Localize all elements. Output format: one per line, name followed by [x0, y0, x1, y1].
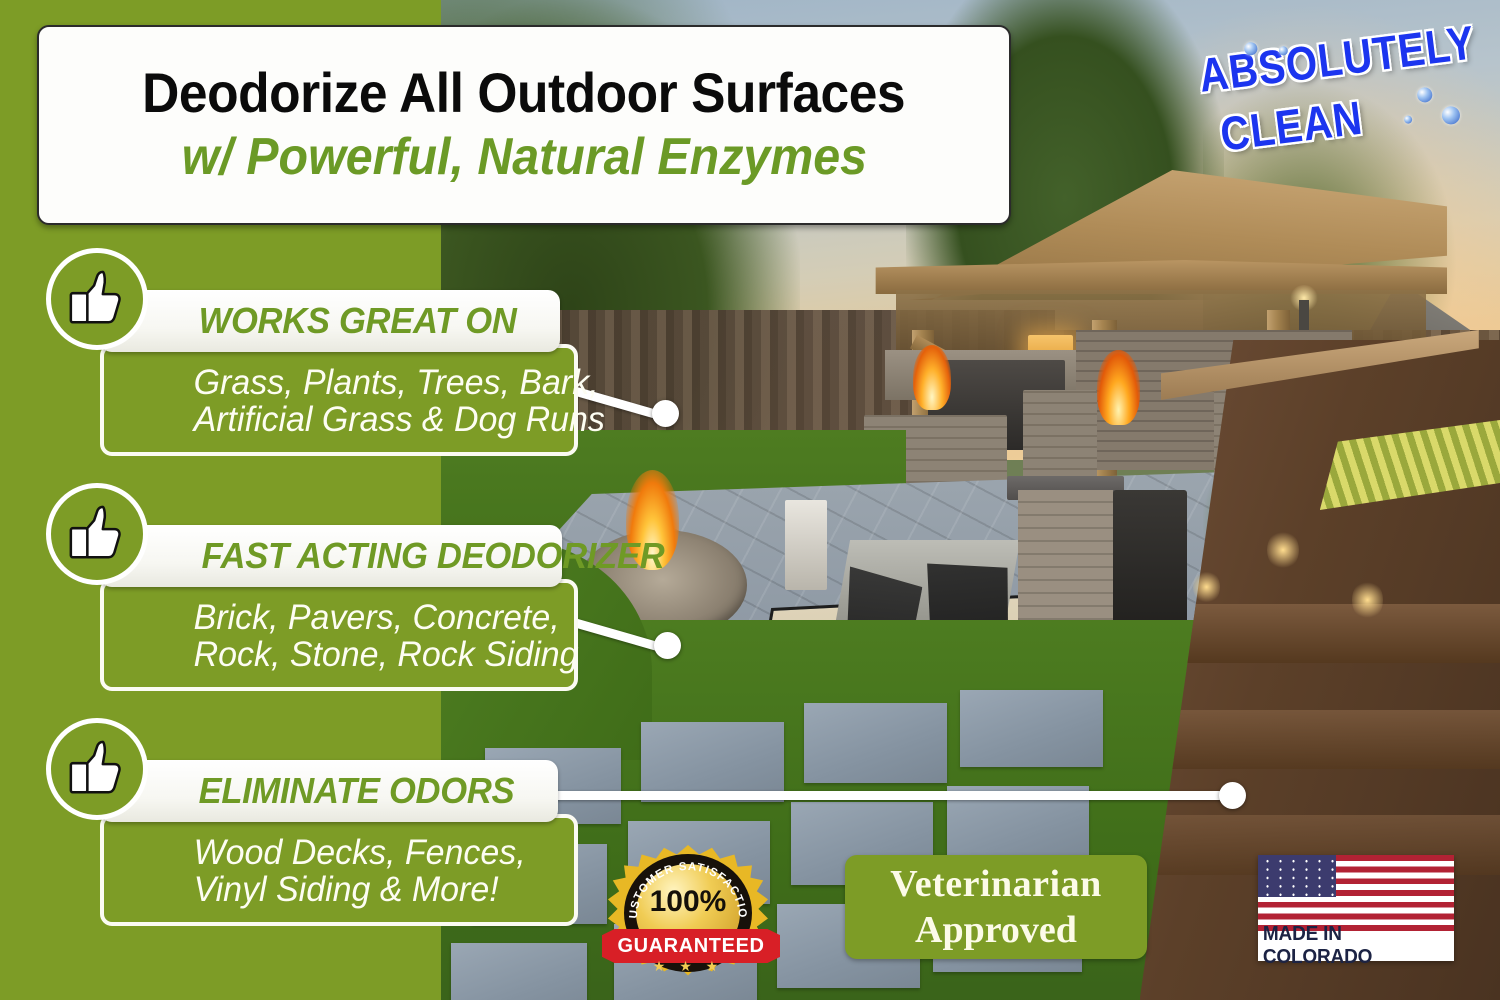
- us-flag-icon: [1258, 855, 1454, 931]
- candle-light-3: [1193, 570, 1221, 604]
- thumbs-up-icon: [46, 718, 148, 820]
- feature-body-line-3b: Vinyl Siding & More!: [194, 871, 557, 908]
- feature-title-card-2: FAST ACTING DEODORIZER: [100, 525, 562, 587]
- colorado-label: MADE IN COLORADO: [1263, 923, 1449, 969]
- feature-body-line-2a: Brick, Pavers, Concrete,: [194, 599, 557, 636]
- satisfaction-guarantee-seal: CUSTOMER SATISFACTION 100% GUARANTEED ★ …: [602, 845, 780, 981]
- feature-body-line-3a: Wood Decks, Fences,: [194, 834, 557, 871]
- feature-title-2: FAST ACTING DEODORIZER: [202, 535, 665, 577]
- candle-light-2: [1352, 580, 1384, 620]
- seal-percent: 100%: [636, 885, 740, 919]
- feature-body-card-3: Wood Decks, Fences, Vinyl Siding & More!: [100, 814, 578, 926]
- feature-title-card-1: WORKS GREAT ON: [100, 290, 560, 352]
- headline-line-1: Deodorize All Outdoor Surfaces: [143, 64, 906, 122]
- made-in-colorado-badge: MADE IN COLORADO: [1258, 855, 1454, 961]
- callout-connector-line-3: [520, 791, 1235, 800]
- feature-title-card-3: ELIMINATE ODORS: [100, 760, 558, 822]
- feature-cards-1: WORKS GREAT ON Grass, Plants, Trees, Bar…: [100, 290, 578, 456]
- thumbs-up-icon: [46, 248, 148, 350]
- fireplace-flame: [1097, 350, 1139, 425]
- fireplace-flame-left: [913, 345, 951, 410]
- feature-body-line-1b: Artificial Grass & Dog Runs: [194, 401, 557, 438]
- thumbs-up-icon: [46, 483, 148, 585]
- callout-connector-dot-3: [1219, 782, 1246, 809]
- feature-title-1: WORKS GREAT ON: [199, 300, 517, 342]
- seal-ribbon-text: GUARANTEED: [617, 935, 764, 958]
- callout-connector-dot-2: [654, 632, 681, 659]
- feature-body-line-2b: Rock, Stone, Rock Siding: [194, 636, 557, 673]
- headline-line-2: w/ Powerful, Natural Enzymes: [181, 128, 866, 186]
- callout-connector-dot-1: [652, 400, 679, 427]
- colorado-label-bar: MADE IN COLORADO: [1258, 931, 1454, 961]
- feature-body-line-1a: Grass, Plants, Trees, Bark,: [194, 364, 557, 401]
- vet-line-2: Approved: [915, 911, 1077, 949]
- headline-banner: Deodorize All Outdoor Surfaces w/ Powerf…: [37, 25, 1011, 225]
- feature-body-card-2: Brick, Pavers, Concrete, Rock, Stone, Ro…: [100, 579, 578, 691]
- flag-stars: [1258, 855, 1336, 897]
- bar-stool: [785, 500, 827, 590]
- veterinarian-approved-badge: Veterinarian Approved: [845, 855, 1147, 959]
- feature-title-3: ELIMINATE ODORS: [199, 770, 515, 812]
- feature-cards-2: FAST ACTING DEODORIZER Brick, Pavers, Co…: [100, 525, 578, 691]
- product-marketing-poster: Deodorize All Outdoor Surfaces w/ Powerf…: [0, 0, 1500, 1000]
- candle-light-1: [1267, 530, 1299, 570]
- seal-stars: ★ ★ ★: [636, 958, 740, 975]
- feature-cards-3: ELIMINATE ODORS Wood Decks, Fences, Viny…: [100, 760, 578, 926]
- vet-line-1: Veterinarian: [890, 865, 1101, 903]
- feature-body-card-1: Grass, Plants, Trees, Bark, Artificial G…: [100, 344, 578, 456]
